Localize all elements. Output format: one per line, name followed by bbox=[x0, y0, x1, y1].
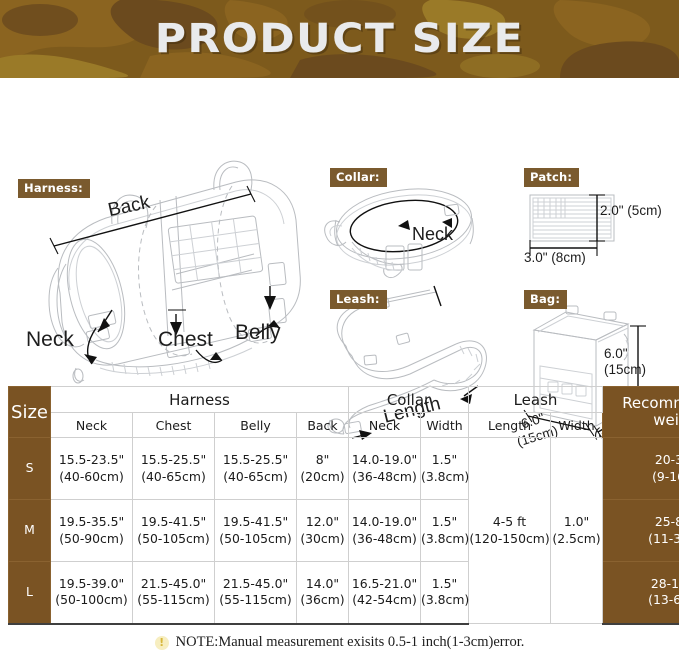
value-cm: (50-105cm) bbox=[133, 531, 214, 548]
value-in: 1.5" bbox=[421, 452, 468, 469]
value-in: 19.5-39.0" bbox=[51, 576, 132, 593]
cell-harness-belly: 19.5-41.5" (50-105cm) bbox=[215, 500, 297, 562]
value-in: 14.0-19.0" bbox=[349, 452, 420, 469]
value-cm: (120-150cm) bbox=[469, 531, 550, 548]
value-kg: (9-16kg) bbox=[603, 469, 679, 486]
label-bag-height: 6.0" (15cm) bbox=[604, 346, 646, 377]
table-row: S 15.5-23.5" (40-60cm) 15.5-25.5" (40-65… bbox=[9, 438, 679, 500]
cell-harness-back: 8" (20cm) bbox=[297, 438, 349, 500]
header-rec-weight-line2: weight bbox=[603, 412, 679, 429]
cell-harness-belly: 21.5-45.0" (55-115cm) bbox=[215, 562, 297, 624]
value-in: 19.5-41.5" bbox=[133, 514, 214, 531]
cell-size: L bbox=[9, 562, 51, 624]
cell-recommended-weight: 28-140lb (13-64kg) bbox=[603, 562, 679, 624]
cell-harness-back: 14.0" (36cm) bbox=[297, 562, 349, 624]
value-in: 15.5-25.5" bbox=[133, 452, 214, 469]
value-in: 16.5-21.0" bbox=[349, 576, 420, 593]
page-banner: PRODUCT SIZE bbox=[0, 0, 679, 78]
value-in: 15.5-23.5" bbox=[51, 452, 132, 469]
warning-icon: ! bbox=[155, 636, 169, 650]
header-harness-belly: Belly bbox=[215, 413, 297, 438]
header-collar-width: Width bbox=[421, 413, 469, 438]
value-cm: (3.8cm) bbox=[421, 592, 468, 609]
label-patch-height: 2.0" (5cm) bbox=[600, 203, 662, 219]
value-lb: 25-80lb bbox=[603, 514, 679, 531]
cell-harness-neck: 15.5-23.5" (40-60cm) bbox=[51, 438, 133, 500]
value-cm: (30cm) bbox=[297, 531, 348, 548]
value-cm: (40-60cm) bbox=[51, 469, 132, 486]
value-in: 1.0" bbox=[551, 514, 602, 531]
cell-leash-width-merged: 1.0" (2.5cm) bbox=[551, 438, 603, 624]
value-cm: (50-90cm) bbox=[51, 531, 132, 548]
badge-collar: Collar: bbox=[330, 168, 387, 187]
table-header-sub: Neck Chest Belly Back Neck Width Length … bbox=[9, 413, 679, 438]
header-rec-weight-line1: Recommended bbox=[603, 395, 679, 412]
cell-collar-neck: 14.0-19.0" (36-48cm) bbox=[349, 438, 421, 500]
value-in: 14.0-19.0" bbox=[349, 514, 420, 531]
value-in: 12.0" bbox=[297, 514, 348, 531]
value-lb: 20-35lb bbox=[603, 452, 679, 469]
diagram-area: Harness: Collar: Patch: Leash: Bag: Back… bbox=[0, 78, 679, 378]
header-harness-chest: Chest bbox=[133, 413, 215, 438]
table-header-top: Size Harness Collar Leash Recommended we… bbox=[9, 387, 679, 413]
size-table: Size Harness Collar Leash Recommended we… bbox=[8, 386, 679, 625]
cell-size: S bbox=[9, 438, 51, 500]
cell-recommended-weight: 25-80lb (11-36kg) bbox=[603, 500, 679, 562]
cell-collar-neck: 16.5-21.0" (42-54cm) bbox=[349, 562, 421, 624]
value-cm: (36-48cm) bbox=[349, 531, 420, 548]
cell-recommended-weight: 20-35lb (9-16kg) bbox=[603, 438, 679, 500]
cell-harness-chest: 21.5-45.0" (55-115cm) bbox=[133, 562, 215, 624]
value-in: 21.5-45.0" bbox=[215, 576, 296, 593]
value-cm: (40-65cm) bbox=[133, 469, 214, 486]
header-leash-width: Width bbox=[551, 413, 603, 438]
cell-collar-width: 1.5" (3.8cm) bbox=[421, 562, 469, 624]
cell-collar-width: 1.5" (3.8cm) bbox=[421, 500, 469, 562]
cell-harness-neck: 19.5-39.0" (50-100cm) bbox=[51, 562, 133, 624]
value-cm: (3.8cm) bbox=[421, 531, 468, 548]
label-harness-belly: Belly bbox=[235, 321, 281, 345]
header-group-harness: Harness bbox=[51, 387, 349, 413]
cell-harness-back: 12.0" (30cm) bbox=[297, 500, 349, 562]
value-cm: (20cm) bbox=[297, 469, 348, 486]
header-recommended-weight: Recommended weight bbox=[603, 387, 679, 438]
value-cm: (55-115cm) bbox=[215, 592, 296, 609]
value-in: 19.5-41.5" bbox=[215, 514, 296, 531]
value-kg: (13-64kg) bbox=[603, 592, 679, 609]
value-in: 1.5" bbox=[421, 514, 468, 531]
label-bag-height-line1: 6.0" bbox=[604, 346, 646, 362]
header-collar-neck: Neck bbox=[349, 413, 421, 438]
value-cm: (40-65cm) bbox=[215, 469, 296, 486]
header-harness-back: Back bbox=[297, 413, 349, 438]
header-harness-neck: Neck bbox=[51, 413, 133, 438]
value-kg: (11-36kg) bbox=[603, 531, 679, 548]
value-cm: (50-100cm) bbox=[51, 592, 132, 609]
page-title: PRODUCT SIZE bbox=[0, 0, 679, 78]
label-collar-neck: Neck bbox=[412, 224, 453, 245]
cell-collar-width: 1.5" (3.8cm) bbox=[421, 438, 469, 500]
badge-patch: Patch: bbox=[524, 168, 579, 187]
value-cm: (3.8cm) bbox=[421, 469, 468, 486]
value-lb: 28-140lb bbox=[603, 576, 679, 593]
label-bag-height-line2: (15cm) bbox=[604, 362, 646, 378]
cell-collar-neck: 14.0-19.0" (36-48cm) bbox=[349, 500, 421, 562]
cell-size: M bbox=[9, 500, 51, 562]
header-size: Size bbox=[9, 387, 51, 438]
value-in: 19.5-35.5" bbox=[51, 514, 132, 531]
header-group-leash: Leash bbox=[469, 387, 603, 413]
note-row: ! NOTE:Manual measurement exisits 0.5-1 … bbox=[0, 634, 679, 651]
value-cm: (36-48cm) bbox=[349, 469, 420, 486]
cell-harness-neck: 19.5-35.5" (50-90cm) bbox=[51, 500, 133, 562]
value-cm: (42-54cm) bbox=[349, 592, 420, 609]
value-ft: 4-5 ft bbox=[469, 514, 550, 531]
badge-harness: Harness: bbox=[18, 179, 90, 198]
badge-bag: Bag: bbox=[524, 290, 567, 309]
value-in: 15.5-25.5" bbox=[215, 452, 296, 469]
product-size-page: PRODUCT SIZE bbox=[0, 0, 679, 664]
value-in: 1.5" bbox=[421, 576, 468, 593]
value-cm: (2.5cm) bbox=[551, 531, 602, 548]
header-leash-length: Length bbox=[469, 413, 551, 438]
value-in: 14.0" bbox=[297, 576, 348, 593]
cell-harness-belly: 15.5-25.5" (40-65cm) bbox=[215, 438, 297, 500]
cell-harness-chest: 19.5-41.5" (50-105cm) bbox=[133, 500, 215, 562]
note-text: NOTE:Manual measurement exisits 0.5-1 in… bbox=[176, 634, 525, 651]
value-cm: (55-115cm) bbox=[133, 592, 214, 609]
value-in: 8" bbox=[297, 452, 348, 469]
header-group-collar: Collar bbox=[349, 387, 469, 413]
label-harness-chest: Chest bbox=[158, 328, 213, 352]
size-table-wrapper: Size Harness Collar Leash Recommended we… bbox=[8, 386, 671, 625]
badge-leash: Leash: bbox=[330, 290, 387, 309]
collar-illustration bbox=[325, 181, 476, 278]
label-harness-neck: Neck bbox=[26, 328, 74, 352]
diagram-line-art bbox=[0, 78, 679, 378]
cell-leash-length-merged: 4-5 ft (120-150cm) bbox=[469, 438, 551, 624]
value-cm: (50-105cm) bbox=[215, 531, 296, 548]
label-patch-width: 3.0" (8cm) bbox=[524, 250, 586, 266]
value-cm: (36cm) bbox=[297, 592, 348, 609]
value-in: 21.5-45.0" bbox=[133, 576, 214, 593]
cell-harness-chest: 15.5-25.5" (40-65cm) bbox=[133, 438, 215, 500]
